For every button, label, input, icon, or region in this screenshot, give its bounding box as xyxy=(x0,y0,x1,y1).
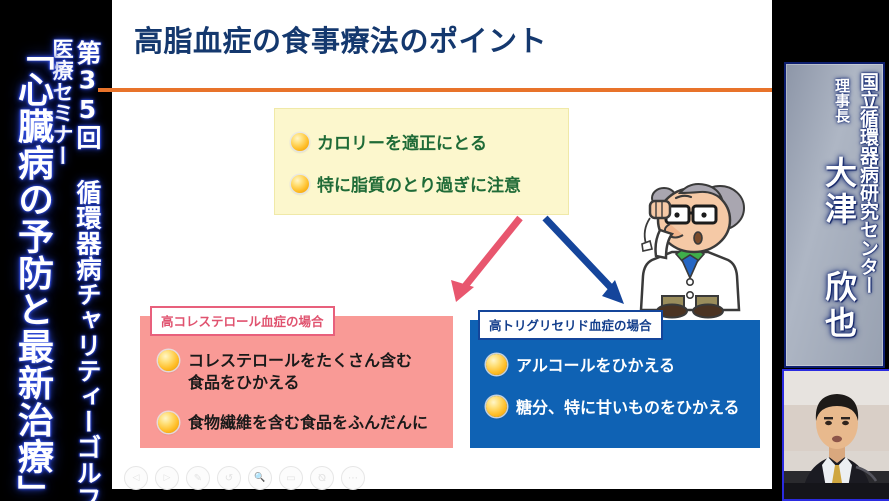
notes-button[interactable]: ▭ xyxy=(279,466,303,490)
gold-orb-icon xyxy=(158,412,179,433)
high-cholesterol-label: 高コレステロール血症の場合 xyxy=(150,306,335,336)
zoom-button[interactable]: 🔍 xyxy=(248,466,272,490)
triglyceride-advice-text: アルコールをひかえる xyxy=(516,352,675,376)
previous-slide-icon: ◁ xyxy=(133,473,140,483)
list-item: 食物繊維を含む食品をふんだんに xyxy=(158,412,428,434)
list-item: コレステロールをたくさん含む食品をひかえる xyxy=(158,350,412,393)
arrow-to-triglyceride-icon xyxy=(545,218,624,304)
triglyceride-advice-text: 糖分、特に甘いものをひかえる xyxy=(516,394,740,418)
video-frame: 第35回 循環器病チャリティーゴルフ 医療セミナー 「心臓病の予防と最新治療」 … xyxy=(0,0,889,501)
more-options-button[interactable]: ⋯ xyxy=(341,466,365,490)
speaker-video-thumbnail[interactable] xyxy=(782,369,889,501)
list-item: アルコールをひかえる xyxy=(486,352,675,376)
high-triglyceride-label: 高トリグリセリド血症の場合 xyxy=(478,310,663,340)
disable-pointer-button[interactable]: ⦰ xyxy=(310,466,334,490)
list-item: 糖分、特に甘いものをひかえる xyxy=(486,394,740,418)
play-icon: ▷ xyxy=(164,473,171,483)
magnifier-icon: 🔍 xyxy=(254,473,265,483)
notes-icon: ▭ xyxy=(286,473,295,484)
player-toolbar[interactable]: ◁ ▷ ✎ ↺ 🔍 ▭ ⦰ ⋯ xyxy=(124,466,365,490)
list-item: カロリーを適正にとる xyxy=(291,129,487,154)
gold-orb-icon xyxy=(486,396,507,417)
banner-event-title: 第35回 循環器病チャリティーゴルフ xyxy=(75,40,100,501)
play-button[interactable]: ▷ xyxy=(155,466,179,490)
pen-tool-button[interactable]: ✎ xyxy=(186,466,210,490)
banner-seminar-label: 医療セミナー xyxy=(51,38,72,167)
left-title-banner: 第35回 循環器病チャリティーゴルフ 医療セミナー 「心臓病の予防と最新治療」 xyxy=(0,0,112,501)
arrow-to-cholesterol-icon xyxy=(451,218,520,302)
cholesterol-advice-line1: コレステロールをたくさん含む xyxy=(188,351,412,370)
cartoon-doctor-illustration xyxy=(620,168,760,320)
pen-icon: ✎ xyxy=(194,473,202,484)
speaker-photo xyxy=(784,371,889,499)
general-advice-box: カロリーを適正にとる 特に脂質のとり過ぎに注意 xyxy=(274,108,569,215)
speaker-name: 大津 欣也 xyxy=(823,156,855,342)
cholesterol-advice-text: 食物繊維を含む食品をふんだんに xyxy=(188,412,428,434)
undo-button[interactable]: ↺ xyxy=(217,466,241,490)
gold-orb-icon xyxy=(291,133,309,151)
gold-orb-icon xyxy=(486,354,507,375)
presentation-slide: 高脂血症の食事療法のポイント カロリーを適正にとる 特に脂質のとり過ぎに注意 xyxy=(112,0,772,489)
gold-orb-icon xyxy=(291,175,309,193)
cholesterol-advice-line2: 食品をひかえる xyxy=(188,373,300,392)
speaker-panel: 国立循環器病研究センター 理事長 大津 欣也 xyxy=(772,0,889,501)
advice-text: 特に脂質のとり過ぎに注意 xyxy=(317,171,521,196)
advice-text: カロリーを適正にとる xyxy=(317,129,487,154)
speaker-organization: 国立循環器病研究センター xyxy=(858,72,877,294)
speaker-name-plate: 国立循環器病研究センター 理事長 大津 欣也 xyxy=(784,62,885,368)
disable-pointer-icon: ⦰ xyxy=(318,473,326,484)
banner-theme-title: 「心臓病の予防と最新治療」 xyxy=(14,34,50,501)
previous-slide-button[interactable]: ◁ xyxy=(124,466,148,490)
gold-orb-icon xyxy=(158,350,179,371)
list-item: 特に脂質のとり過ぎに注意 xyxy=(291,171,521,196)
cholesterol-advice-text: コレステロールをたくさん含む食品をひかえる xyxy=(188,350,412,393)
more-options-icon: ⋯ xyxy=(348,473,358,484)
undo-icon: ↺ xyxy=(225,473,233,484)
slide-title: 高脂血症の食事療法のポイント xyxy=(134,18,547,60)
title-underline-rule xyxy=(98,88,774,92)
speaker-role: 理事長 xyxy=(834,78,849,123)
